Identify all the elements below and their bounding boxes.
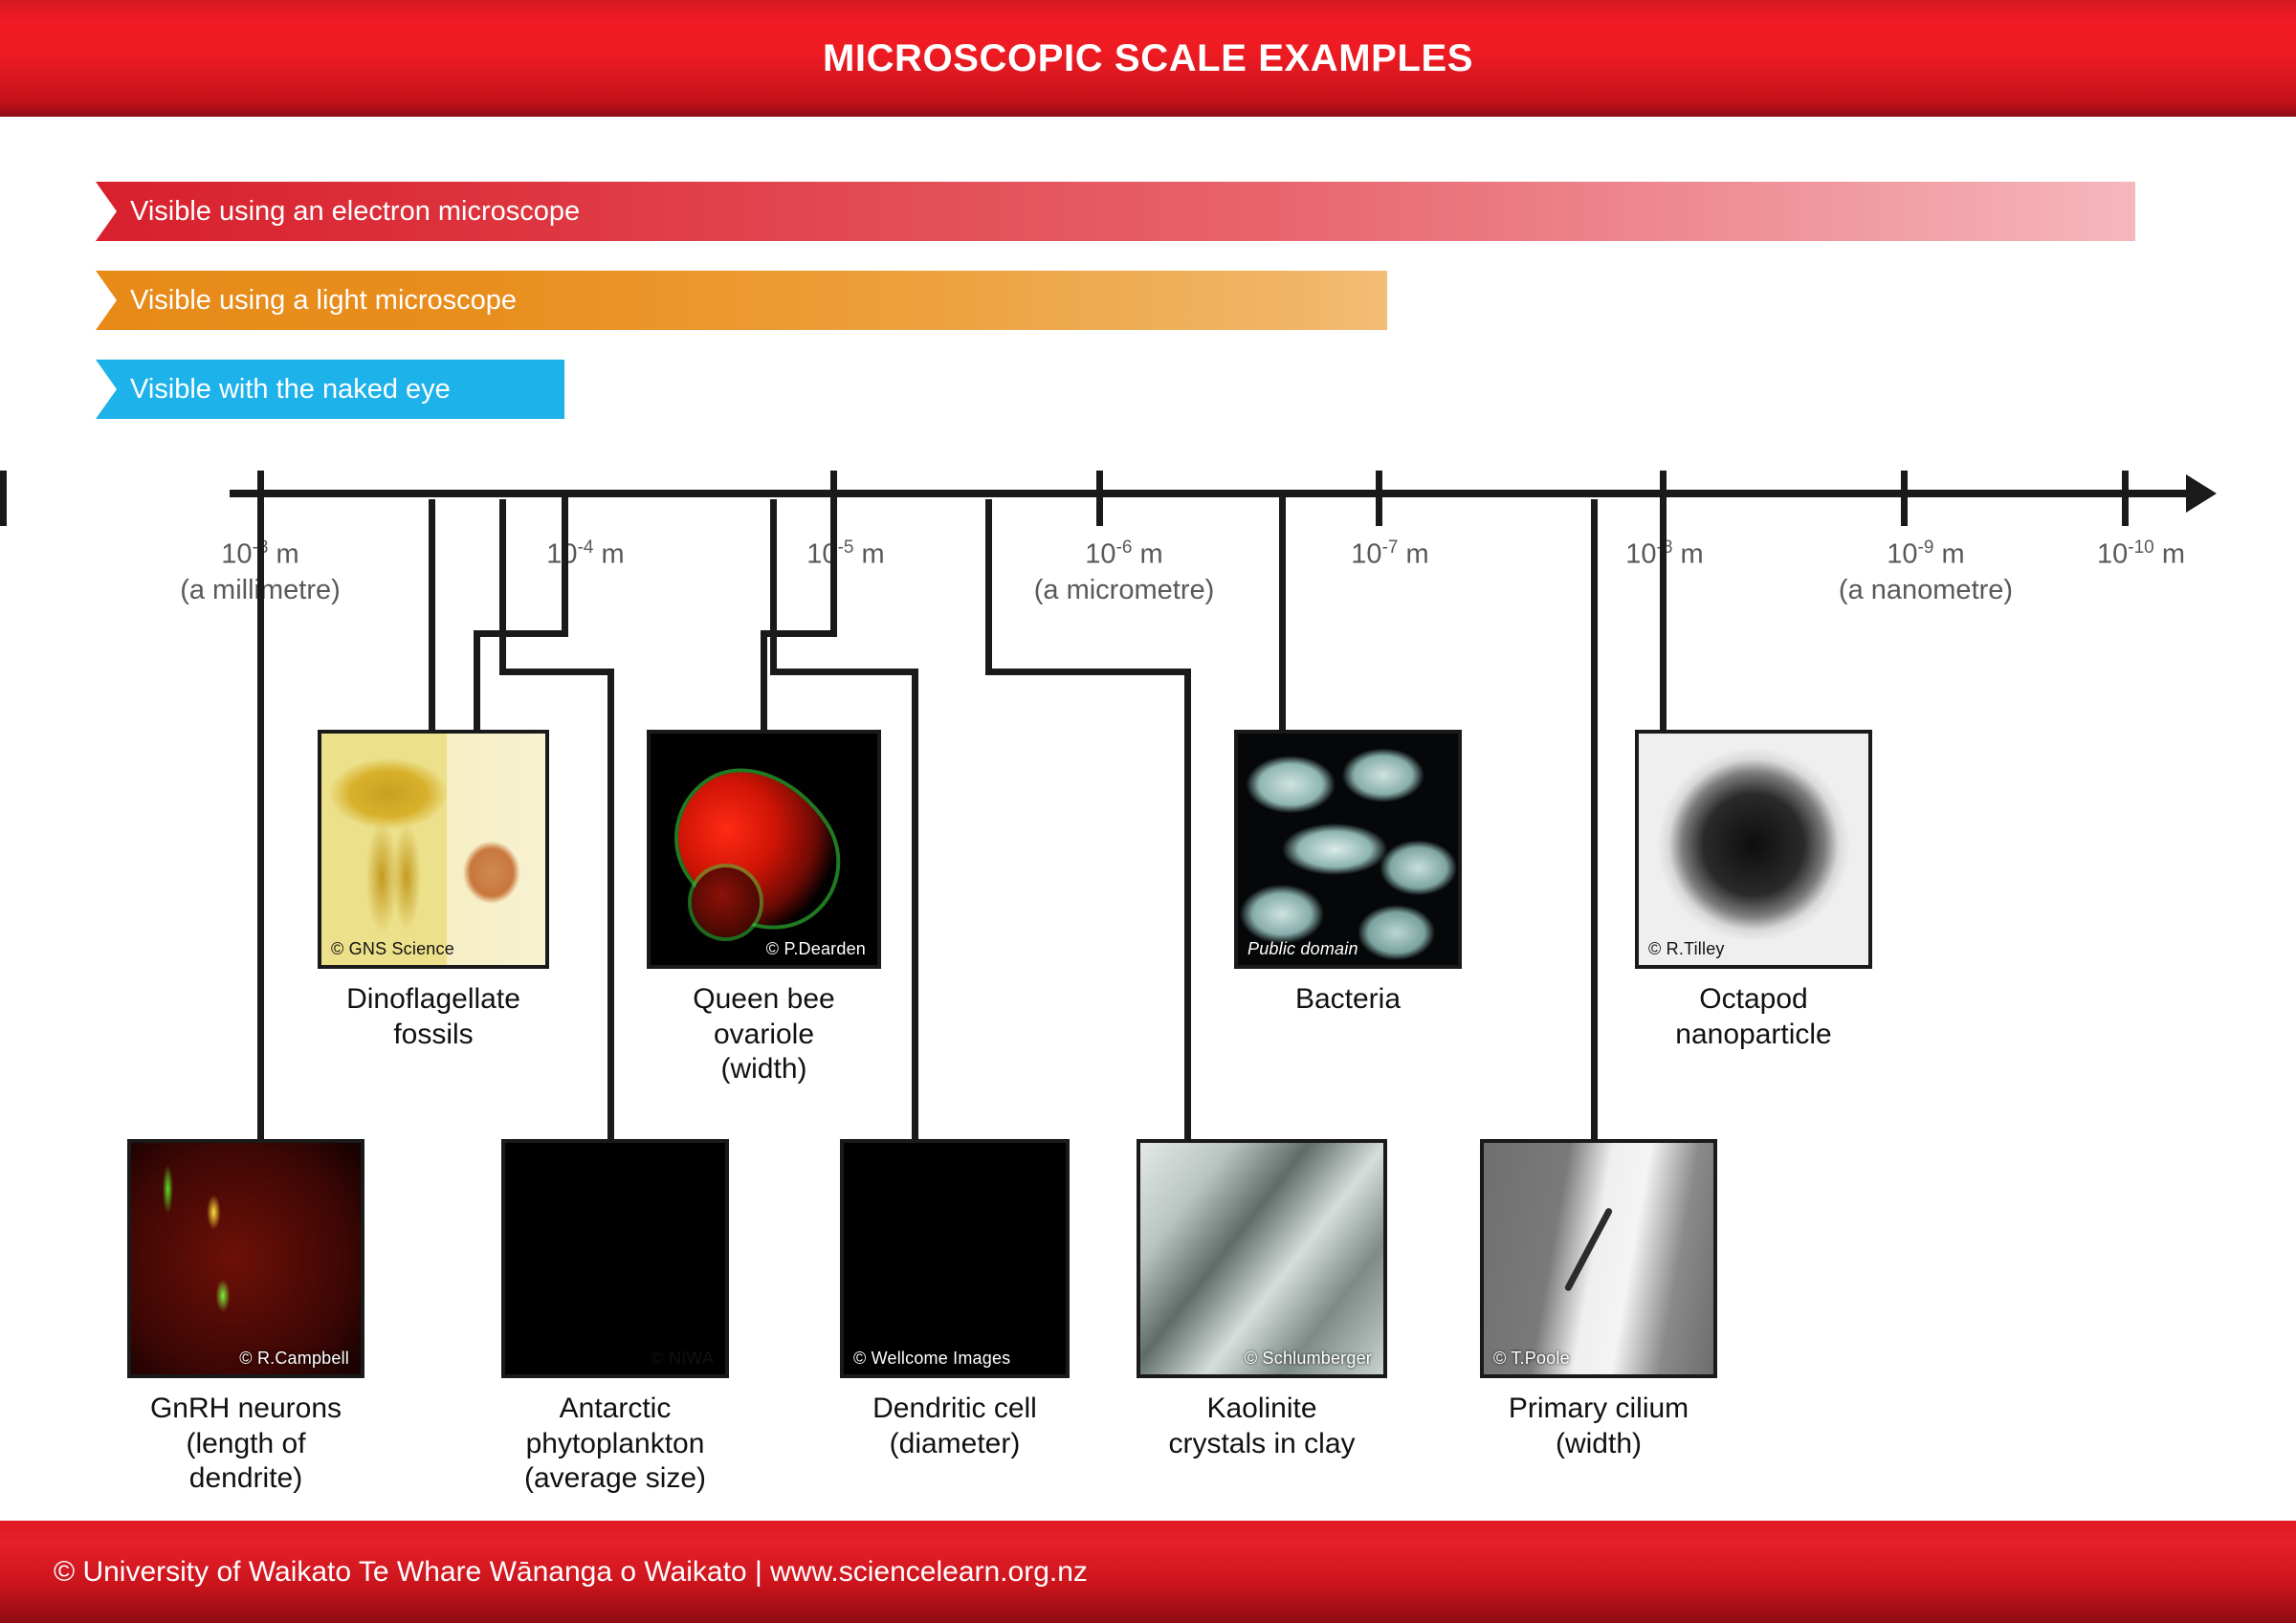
card-image-dinoflagellate: © GNS Science [318,730,549,969]
credit-dendritic: © Wellcome Images [853,1349,1010,1369]
octapod-nanoparticle-thumbnail [1639,734,1868,965]
leader-line-dendritic-b [770,669,918,675]
caption-line-1: Queen bee [647,982,881,1018]
primary-cilium-thumbnail [1484,1143,1713,1374]
card-image-gnrh: © R.Campbell [127,1139,364,1378]
 [0,471,7,526]
card-image-dendritic: © Wellcome Images [840,1139,1070,1378]
card-image-queen-bee: © P.Dearden [647,730,881,969]
credit-gnrh: © R.Campbell [239,1349,349,1369]
caption-cilium: Primary cilium (width) [1480,1392,1717,1461]
caption-line-1: GnRH neurons [127,1392,364,1427]
credit-queen-bee: © P.Dearden [766,939,866,959]
caption-gnrh: GnRH neurons (length of dendrite) [127,1392,364,1497]
legend-label-electron-microscope: Visible using an electron microscope [96,196,580,228]
caption-line-2: fossils [318,1018,549,1053]
caption-line-2: (length of dendrite) [127,1427,364,1497]
card-bacteria[interactable]: Public domain Bacteria [1234,730,1462,1018]
dendritic-cell-thumbnail [844,1143,1066,1374]
card-antarctic-phytoplankton[interactable]: © NIWA Antarctic phytoplankton (average … [501,1139,729,1497]
axis-tick-1e-9 [1901,471,1908,526]
axis-label-1e-6: 10-6 m (a micrometre) [1034,537,1215,606]
leader-line-cilium [1591,499,1598,1141]
leader-line-kaolinite-a [985,499,992,673]
card-image-phytoplankton: © NIWA [501,1139,729,1378]
legend-label-naked-eye: Visible with the naked eye [96,374,451,406]
page-footer: © University of Waikato Te Whare Wānanga… [0,1521,2296,1623]
legend-label-light-microscope: Visible using a light microscope [96,285,517,317]
caption-line-1: Bacteria [1234,982,1462,1018]
queen-bee-ovariole-thumbnail [651,734,877,965]
leader-line-gnrh [257,493,264,1139]
caption-queen-bee: Queen bee ovariole (width) [647,982,881,1087]
card-dendritic-cell[interactable]: © Wellcome Images Dendritic cell (diamet… [840,1139,1070,1461]
credit-dinoflagellate: © GNS Science [331,939,454,959]
leader-line-dino-drop [429,499,435,730]
caption-line-2: nanoparticle [1635,1018,1872,1053]
caption-line-2: (diameter) [840,1427,1070,1462]
antarctic-phytoplankton-thumbnail [505,1143,725,1374]
leader-line-queenbee-c [761,630,767,730]
footer-attribution: © University of Waikato Te Whare Wānanga… [0,1556,1088,1589]
card-queen-bee-ovariole[interactable]: © P.Dearden Queen bee ovariole (width) [647,730,881,1087]
legend-bar-naked-eye[interactable]: Visible with the naked eye [96,360,564,419]
caption-line-2: (average size) [501,1461,729,1497]
gnrh-neurons-thumbnail [131,1143,361,1374]
credit-cilium: © T.Poole [1493,1349,1570,1369]
caption-kaolinite: Kaolinite crystals in clay [1137,1392,1387,1461]
legend-bar-electron-microscope[interactable]: Visible using an electron microscope [96,182,2135,241]
leader-line-phyto-b [499,669,614,675]
credit-kaolinite: © Schlumberger [1245,1349,1372,1369]
leader-line-dendritic-a [770,499,777,673]
credit-phytoplankton: © NIWA [651,1349,714,1369]
leader-line-dino-b [474,630,568,637]
caption-line-1: Dendritic cell [840,1392,1070,1427]
card-primary-cilium[interactable]: © T.Poole Primary cilium (width) [1480,1139,1717,1461]
caption-dinoflagellate: Dinoflagellate fossils [318,982,549,1052]
kaolinite-crystals-thumbnail [1140,1143,1383,1374]
card-kaolinite-crystals[interactable]: © Schlumberger Kaolinite crystals in cla… [1137,1139,1387,1461]
axis-label-1e-10: 10-10 m [2097,537,2185,575]
leader-line-bacteria [1279,493,1286,735]
card-image-bacteria: Public domain [1234,730,1462,969]
leader-line-octapod [1660,493,1667,735]
card-image-octapod: © R.Tilley [1635,730,1872,969]
caption-line-1: Dinoflagellate [318,982,549,1018]
leader-line-dino-c [474,630,480,730]
dinoflagellate-thumbnail [321,734,545,965]
caption-line-2: crystals in clay [1137,1427,1387,1462]
caption-dendritic: Dendritic cell (diameter) [840,1392,1070,1461]
credit-bacteria: Public domain [1247,939,1358,959]
axis-label-1e-5: 10-5 m [806,537,884,575]
leader-line-kaolinite-b [985,669,1191,675]
caption-line-1: Antarctic phytoplankton [501,1392,729,1461]
caption-line-1: Primary cilium [1480,1392,1717,1427]
card-dinoflagellate[interactable]: © GNS Science Dinoflagellate fossils [318,730,549,1052]
leader-line-phyto-c [607,669,614,1141]
leader-line-kaolinite-c [1184,669,1191,1141]
axis-tick-1e-6 [1096,471,1103,526]
card-image-kaolinite: © Schlumberger [1137,1139,1387,1378]
axis-tick-1e-10 [2122,471,2129,526]
legend-bar-light-microscope[interactable]: Visible using a light microscope [96,271,1387,330]
caption-bacteria: Bacteria [1234,982,1462,1018]
caption-line-1: Octapod [1635,982,1872,1018]
leader-line-phyto-a [499,499,506,673]
bacteria-thumbnail [1238,734,1458,965]
caption-line-3: (width) [647,1052,881,1087]
credit-octapod: © R.Tilley [1648,939,1725,959]
card-image-primary-cilium: © T.Poole [1480,1139,1717,1378]
axis-label-1e-7: 10-7 m [1351,537,1428,575]
card-octapod-nanoparticle[interactable]: © R.Tilley Octapod nanoparticle [1635,730,1872,1052]
card-gnrh-neurons[interactable]: © R.Campbell GnRH neurons (length of den… [127,1139,364,1497]
caption-line-1: Kaolinite [1137,1392,1387,1427]
axis-tick-1e-7 [1376,471,1382,526]
axis-label-1e-9: 10-9 m (a nanometre) [1839,537,2013,606]
axis-label-1e-4: 10-4 m [546,537,624,575]
visibility-legend: Visible using an electron microscope Vis… [0,0,2296,478]
leader-line-queenbee-a [830,493,837,637]
caption-phytoplankton: Antarctic phytoplankton (average size) [501,1392,729,1497]
caption-line-2: ovariole [647,1018,881,1053]
caption-octapod: Octapod nanoparticle [1635,982,1872,1052]
caption-line-2: (width) [1480,1427,1717,1462]
leader-line-dino-a [562,493,568,637]
axis-arrow-icon [2186,474,2217,513]
leader-line-dendritic-c [912,669,918,1141]
